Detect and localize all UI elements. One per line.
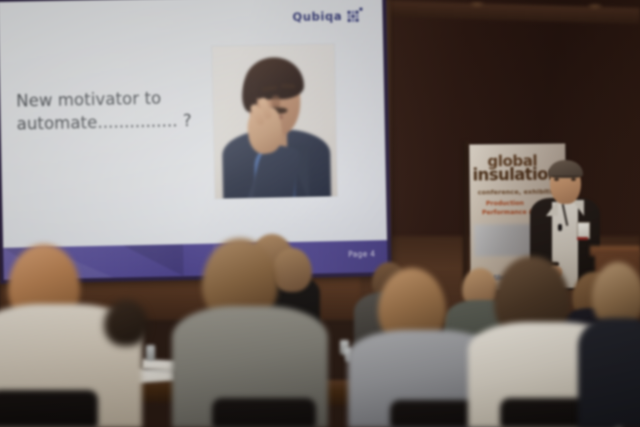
projection-screen: Qubiqa New motivator to automate........… [0, 0, 392, 284]
audience-body [578, 318, 640, 427]
speaker-eye-left [554, 178, 559, 181]
speaker-eye-right [571, 178, 576, 181]
drinking-glass [146, 345, 155, 361]
logo-dot-icon [359, 8, 362, 11]
banner-stand [463, 142, 469, 294]
logo-wordmark: Qubiqa [292, 9, 342, 24]
footer-shape [123, 244, 184, 277]
ceiling-light-icon [588, 4, 602, 9]
slide-logo: Qubiqa [292, 9, 358, 24]
slide-page-number: Page 4 [348, 249, 375, 259]
ceiling-light-icon [470, 2, 484, 7]
audience-chair [212, 398, 316, 427]
presentation-slide: Qubiqa New motivator to automate........… [0, 0, 388, 280]
audience-head [104, 300, 148, 346]
qubiqa-grid-mark-icon [347, 11, 359, 23]
banner-line-2: Performance & [482, 209, 534, 217]
speaker-badge-strip [577, 237, 588, 240]
speaker-collar-left [546, 200, 558, 216]
audience-chair [0, 390, 98, 427]
speaker-microphone-icon [558, 224, 562, 231]
slide-headline: New motivator to automate...............… [16, 86, 217, 137]
presentation-room-photo: Qubiqa New motivator to automate........… [0, 0, 640, 427]
photo-brow-right [281, 84, 295, 89]
audience-head [272, 248, 312, 292]
banner-line-1: Production [486, 200, 524, 207]
headline-line-2: automate............... ? [16, 109, 216, 136]
slide-photo-puzzled-man [212, 44, 337, 198]
speaker-collar-right [572, 200, 584, 216]
